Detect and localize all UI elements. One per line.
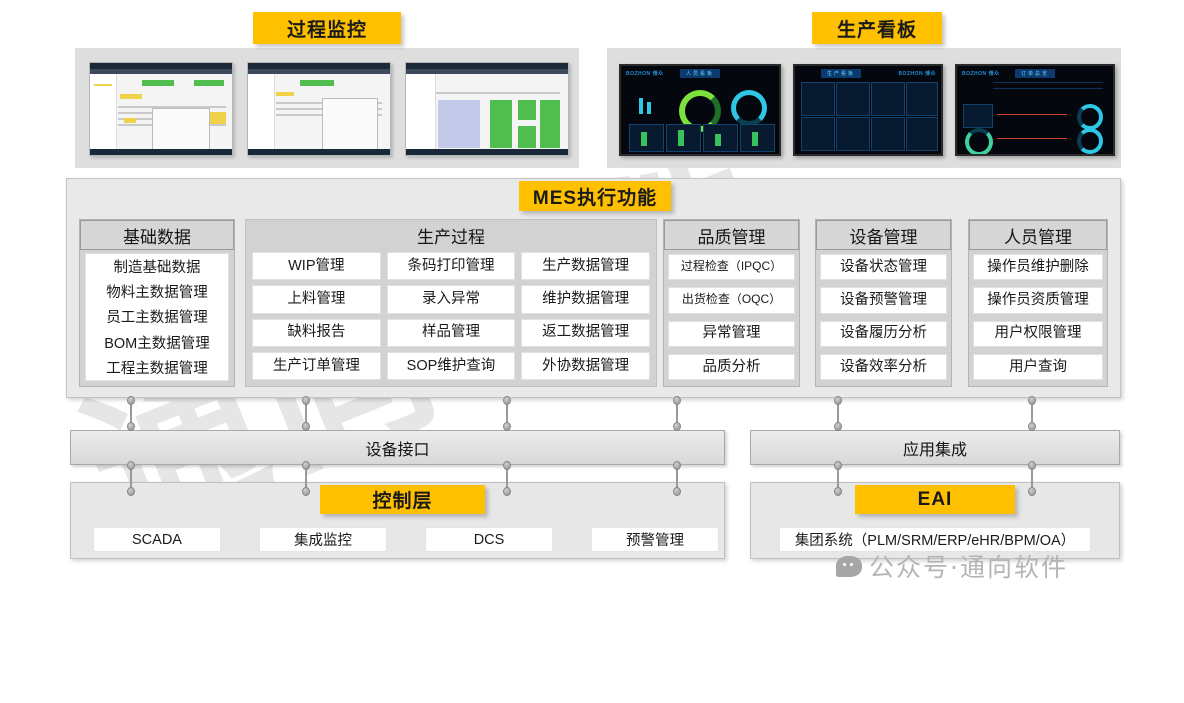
group-production-process: 生产过程 WIP管理 条码打印管理 生产数据管理 上料管理 录入异常 维护数据管… — [245, 219, 657, 387]
dashboard-title: 人员看板 — [680, 69, 720, 78]
list-item[interactable]: 品质分析 — [668, 354, 795, 380]
list-item[interactable]: 维护数据管理 — [521, 285, 650, 313]
list-item[interactable]: 制造基础数据 — [114, 256, 201, 277]
list-item[interactable]: 外协数据管理 — [521, 352, 650, 380]
mes-badge: MES执行功能 — [519, 181, 671, 211]
list-item[interactable]: SOP维护查询 — [387, 352, 516, 380]
diagram-root: 通向软件 — [0, 0, 1184, 595]
dashboard-title: 订单总览 — [1015, 69, 1055, 78]
bar-equipment-interface[interactable]: 设备接口 — [70, 430, 725, 465]
list-item[interactable]: 上料管理 — [252, 285, 381, 313]
group-items-equipment-management: 设备状态管理 设备预警管理 设备履历分析 设备效率分析 — [816, 250, 951, 386]
dashboard-thumb-3[interactable]: BOZHON 博众 订单总览 — [955, 64, 1115, 156]
group-personnel-management: 人员管理 操作员维护删除 操作员资质管理 用户权限管理 用户查询 — [968, 219, 1108, 387]
connector — [503, 461, 512, 497]
connector — [302, 461, 311, 497]
donut-chart-cyan — [731, 90, 767, 126]
list-item[interactable]: 操作员维护删除 — [973, 254, 1103, 280]
connector — [1028, 396, 1037, 432]
screenshot-sidebar — [248, 74, 275, 155]
group-quality-management: 品质管理 过程检查（IPQC） 出货检查（OQC） 异常管理 品质分析 — [663, 219, 800, 387]
list-item[interactable]: 预警管理 — [591, 527, 719, 552]
footer-branding: 公众号·通向软件 — [836, 548, 1068, 584]
list-item[interactable]: 员工主数据管理 — [106, 306, 208, 327]
group-title-personnel-management: 人员管理 — [969, 220, 1107, 250]
donut-chart-right-2 — [1077, 128, 1103, 154]
connector — [503, 396, 512, 432]
group-title-basic-data: 基础数据 — [80, 220, 234, 250]
list-item[interactable]: 工程主数据管理 — [106, 357, 208, 378]
dashboard-brand: BOZHON 博众 — [962, 70, 1000, 77]
production-kanban-panel: BOZHON 博众 人员看板 生产看板 BOZHON 博众 — [607, 48, 1121, 168]
dashboard-title: 生产看板 — [821, 69, 861, 78]
screenshot-thumb-3[interactable] — [405, 62, 569, 156]
screenshot-thumb-1[interactable] — [89, 62, 233, 156]
dashboard-brand: BOZHON 博众 — [898, 70, 936, 77]
group-equipment-management: 设备管理 设备状态管理 设备预警管理 设备履历分析 设备效率分析 — [815, 219, 952, 387]
list-item[interactable]: DCS — [425, 527, 553, 552]
control-layer-badge: 控制层 — [320, 485, 485, 514]
process-monitoring-badge: 过程监控 — [253, 12, 401, 44]
dashboard-brand: BOZHON 博众 — [626, 70, 664, 77]
group-title-quality-management: 品质管理 — [664, 220, 799, 250]
list-item[interactable]: 返工数据管理 — [521, 319, 650, 347]
group-items-production-process: WIP管理 条码打印管理 生产数据管理 上料管理 录入异常 维护数据管理 缺料报… — [246, 250, 656, 386]
donut-chart-right-1 — [1077, 104, 1103, 130]
list-item[interactable]: 缺料报告 — [252, 319, 381, 347]
connector — [673, 461, 682, 497]
list-item[interactable]: 操作员资质管理 — [973, 287, 1103, 313]
list-item[interactable]: 用户权限管理 — [973, 321, 1103, 347]
screenshot-sidebar — [406, 74, 436, 155]
list-item[interactable]: 条码打印管理 — [387, 252, 516, 280]
list-item[interactable]: 过程检查（IPQC） — [668, 254, 795, 280]
donut-chart-small — [965, 128, 993, 156]
connector — [834, 396, 843, 432]
screenshot-body — [248, 74, 390, 155]
screenshot-body — [406, 74, 568, 155]
eai-badge: EAI — [855, 485, 1015, 514]
list-item[interactable]: SCADA — [93, 527, 221, 552]
connector — [127, 396, 136, 432]
dashboard-thumb-1[interactable]: BOZHON 博众 人员看板 — [619, 64, 781, 156]
list-item[interactable]: WIP管理 — [252, 252, 381, 280]
connector — [127, 461, 136, 497]
group-title-equipment-management: 设备管理 — [816, 220, 951, 250]
list-item[interactable]: BOM主数据管理 — [104, 332, 210, 353]
list-item[interactable]: 设备预警管理 — [820, 287, 947, 313]
list-item[interactable]: 生产数据管理 — [521, 252, 650, 280]
list-item[interactable]: 生产订单管理 — [252, 352, 381, 380]
list-item[interactable]: 设备效率分析 — [820, 354, 947, 380]
connector — [1028, 461, 1037, 497]
list-item[interactable]: 样品管理 — [387, 319, 516, 347]
list-item[interactable]: 集成监控 — [259, 527, 387, 552]
group-items-quality-management: 过程检查（IPQC） 出货检查（OQC） 异常管理 品质分析 — [664, 250, 799, 386]
list-item[interactable]: 物料主数据管理 — [106, 281, 208, 302]
connector — [834, 461, 843, 497]
list-item[interactable]: 用户查询 — [973, 354, 1103, 380]
process-monitoring-panel — [75, 48, 579, 168]
list-item[interactable]: 录入异常 — [387, 285, 516, 313]
production-kanban-badge: 生产看板 — [812, 12, 942, 44]
group-items-basic-data: 制造基础数据 物料主数据管理 员工主数据管理 BOM主数据管理 工程主数据管理 — [80, 250, 234, 386]
screenshot-body — [90, 74, 232, 155]
connector — [673, 396, 682, 432]
wechat-icon — [836, 556, 862, 577]
list-item[interactable]: 出货检查（OQC） — [668, 287, 795, 313]
screenshot-thumb-2[interactable] — [247, 62, 391, 156]
group-items-personnel-management: 操作员维护删除 操作员资质管理 用户权限管理 用户查询 — [969, 250, 1107, 386]
footer-text: 公众号·通向软件 — [869, 548, 1068, 584]
connector — [302, 396, 311, 432]
group-basic-data: 基础数据 制造基础数据 物料主数据管理 员工主数据管理 BOM主数据管理 工程主… — [79, 219, 235, 387]
list-item[interactable]: 设备状态管理 — [820, 254, 947, 280]
list-item[interactable]: 设备履历分析 — [820, 321, 947, 347]
group-title-production-process: 生产过程 — [246, 220, 656, 250]
bar-application-integration[interactable]: 应用集成 — [750, 430, 1120, 465]
dashboard-thumb-2[interactable]: 生产看板 BOZHON 博众 — [793, 64, 943, 156]
list-item[interactable]: 异常管理 — [668, 321, 795, 347]
screenshot-sidebar — [90, 74, 117, 155]
